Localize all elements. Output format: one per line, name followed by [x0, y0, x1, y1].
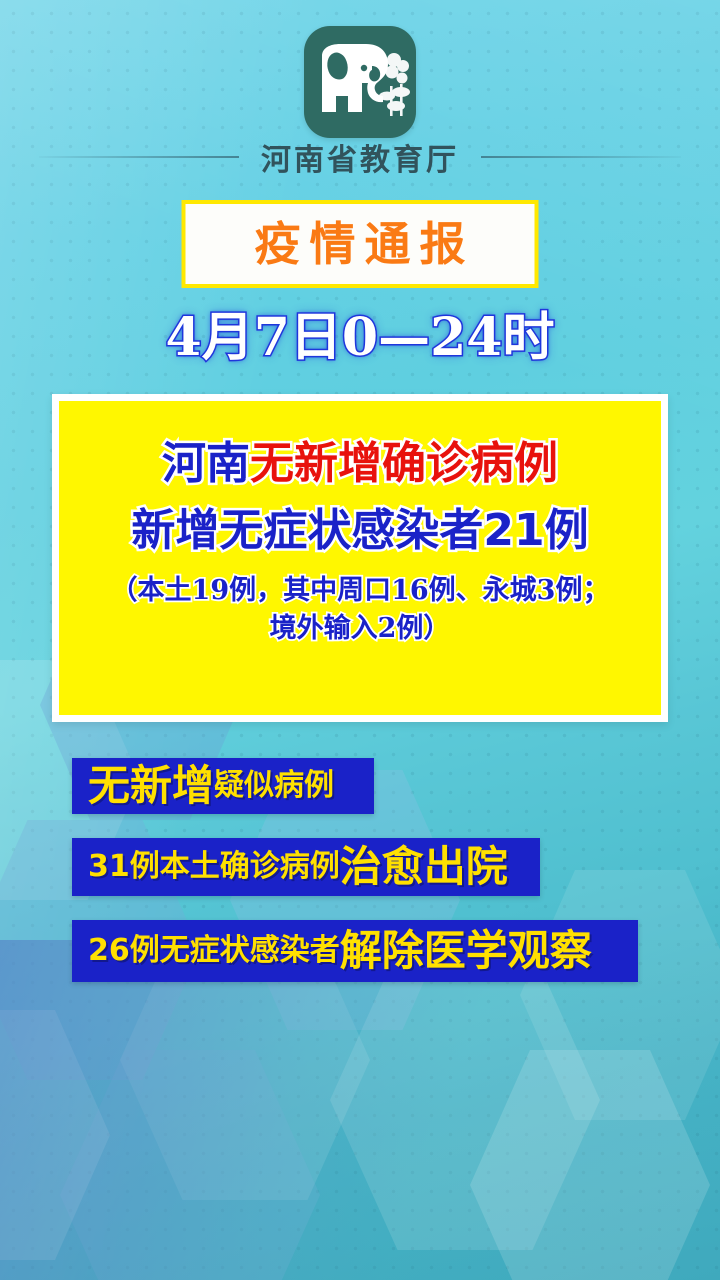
banner-2-detail: 31例本土确诊病例 [88, 852, 340, 882]
banner-3-detail: 26例无症状感染者 [88, 936, 340, 966]
summary-panel: 河南无新增确诊病例 新增无症状感染者21例 （本土19例，其中周口16例、永城3… [52, 394, 668, 722]
headline-region: 河南 [162, 438, 250, 489]
logo-container [304, 26, 416, 138]
headline-status: 无新增确诊病例 [250, 438, 558, 489]
breakdown-note-line-1: （本土19例，其中周口16例、永城3例； [59, 572, 661, 610]
banner-released-from-observation: 26例无症状感染者解除医学观察 [72, 920, 638, 982]
organization-name: 河南省教育厅 [239, 135, 481, 179]
banner-1-emphasis: 无新增 [88, 765, 214, 807]
divider-left [39, 156, 239, 158]
divider-right [481, 156, 681, 158]
banner-2-emphasis: 治愈出院 [340, 846, 508, 888]
organization-header: 河南省教育厅 [0, 134, 720, 180]
banner-no-new-suspected-cases: 无新增疑似病例 [72, 758, 374, 814]
elephant-logo-icon [304, 26, 416, 138]
banner-3-emphasis: 解除医学观察 [340, 930, 592, 972]
page-title-text: 疫情通报 [246, 221, 475, 267]
lower-blue-gradient [0, 940, 720, 1280]
headline: 河南无新增确诊病例 [59, 439, 661, 488]
date-range-label: 4月7日0—24时 [0, 308, 720, 368]
banner-cured-discharged: 31例本土确诊病例治愈出院 [72, 838, 540, 896]
subheadline: 新增无症状感染者21例 [59, 506, 661, 555]
page-title: 疫情通报 [182, 200, 539, 288]
breakdown-note: （本土19例，其中周口16例、永城3例； 境外输入2例） [59, 572, 661, 649]
epidemic-report-poster: 河南省教育厅 疫情通报 4月7日0—24时 河南无新增确诊病例 新增无症状感染者… [0, 0, 720, 1280]
banner-1-detail: 疑似病例 [214, 771, 334, 801]
breakdown-note-line-2: 境外输入2例） [59, 610, 661, 648]
